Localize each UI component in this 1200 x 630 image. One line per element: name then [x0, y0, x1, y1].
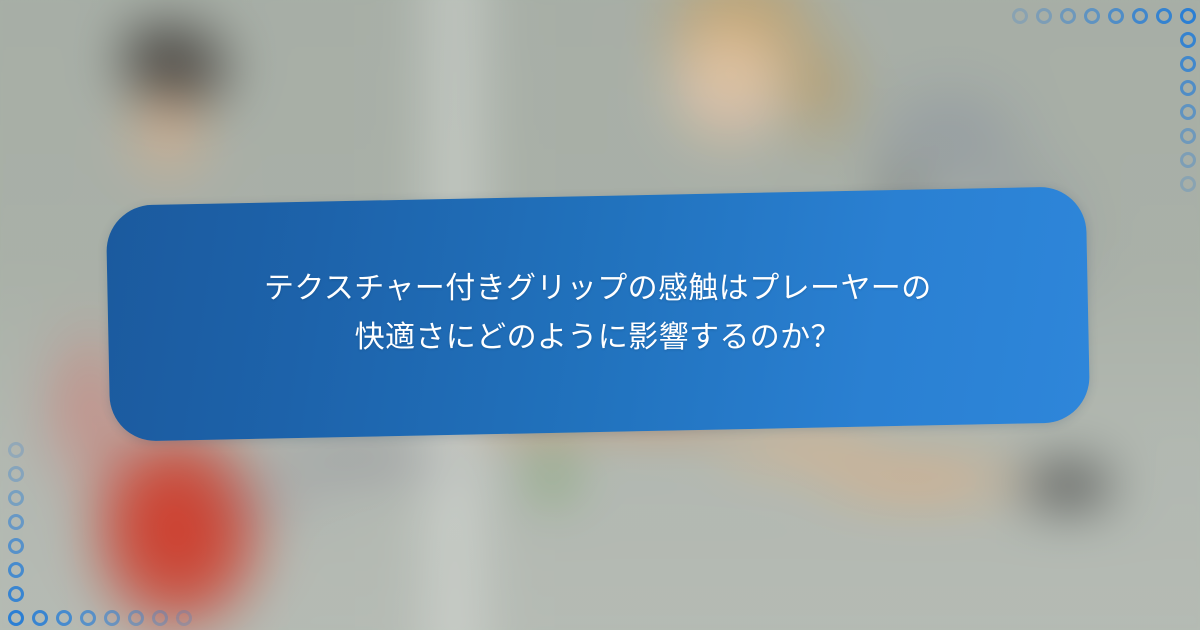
headline-line-2: 快適さにどのように影響するのか？	[264, 314, 932, 363]
headline-card: テクスチャー付きグリップの感触はプレーヤーの 快適さにどのように影響するのか？	[106, 186, 1091, 442]
headline-line-1: テクスチャー付きグリップの感触はプレーヤーの	[264, 265, 932, 314]
headline-text: テクスチャー付きグリップの感触はプレーヤーの 快適さにどのように影響するのか？	[218, 265, 978, 362]
share-card-canvas: テクスチャー付きグリップの感触はプレーヤーの 快適さにどのように影響するのか？	[0, 0, 1200, 630]
